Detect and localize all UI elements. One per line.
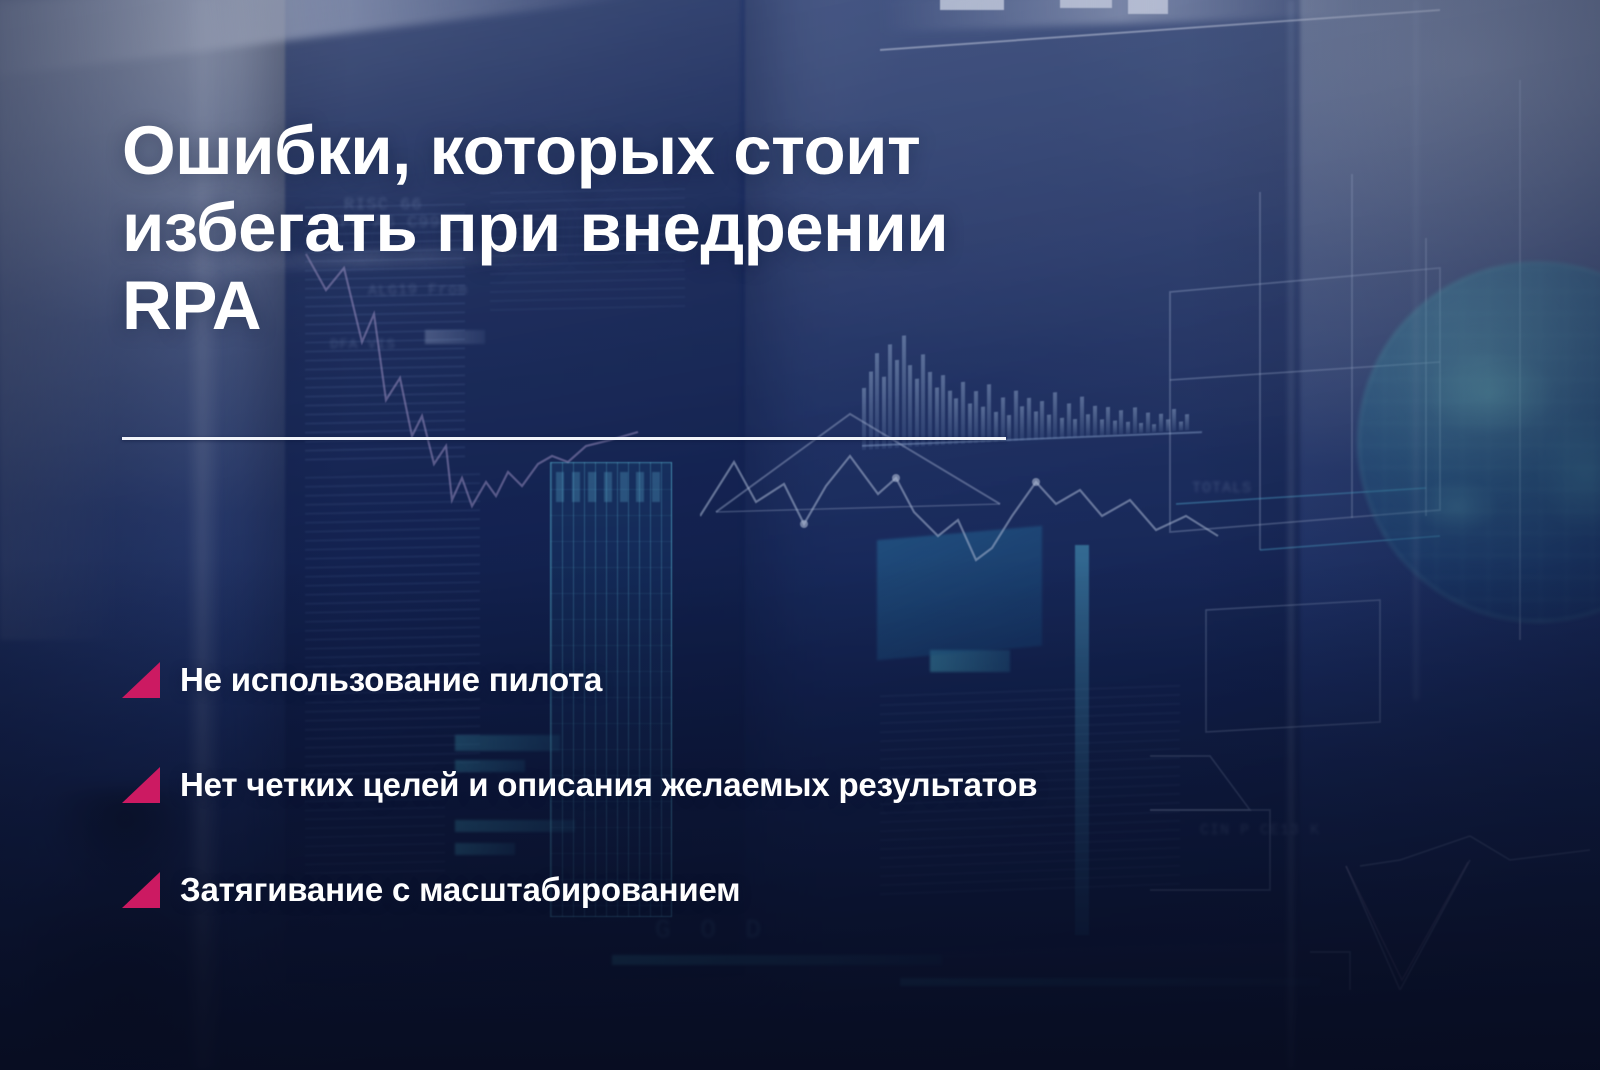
list-item-label: Затягивание с масштабированием	[180, 871, 740, 909]
slide-content: Ошибки, которых стоит избегать при внедр…	[0, 0, 1600, 1070]
list-item-label: Не использование пилота	[180, 661, 602, 699]
title-line-3: RPA	[122, 267, 261, 344]
title-line-2: избегать при внедрении	[122, 189, 948, 266]
triangle-marker-icon	[122, 662, 160, 698]
list-item: Затягивание с масштабированием	[122, 865, 1522, 915]
page-title: Ошибки, которых стоит избегать при внедр…	[122, 112, 1302, 344]
bullet-list: Не использование пилота Нет четких целей…	[122, 655, 1522, 915]
title-divider	[122, 437, 1006, 440]
list-item: Нет четких целей и описания желаемых рез…	[122, 760, 1522, 810]
list-item: Не использование пилота	[122, 655, 1522, 705]
triangle-marker-icon	[122, 872, 160, 908]
list-item-label: Нет четких целей и описания желаемых рез…	[180, 766, 1037, 804]
triangle-marker-icon	[122, 767, 160, 803]
slide-root: RISC 66 PR A6 C99 ALG 19 From DFA VIS TO…	[0, 0, 1600, 1070]
title-line-1: Ошибки, которых стоит	[122, 112, 920, 189]
